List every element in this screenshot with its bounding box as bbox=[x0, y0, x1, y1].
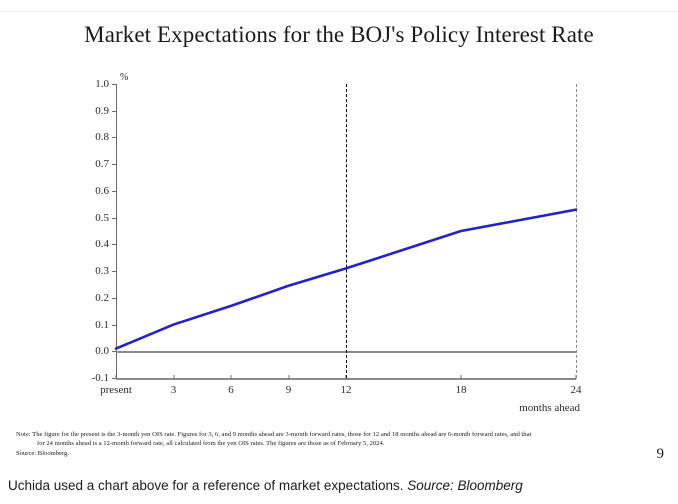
y-tick-label: 0.2 bbox=[95, 292, 109, 304]
x-tick-label: 3 bbox=[171, 384, 177, 396]
slide-top-divider bbox=[0, 11, 678, 12]
y-tick-label: 0.1 bbox=[95, 319, 109, 331]
x-tick-label: present bbox=[100, 384, 132, 396]
x-tick-label: 12 bbox=[341, 384, 352, 396]
y-tick-label: -0.1 bbox=[92, 372, 109, 384]
image-caption: Uchida used a chart above for a referenc… bbox=[8, 478, 676, 493]
series-line-market-expectations bbox=[116, 210, 576, 349]
y-tick-label: 0.5 bbox=[95, 212, 109, 224]
footnote-line-1: Note: The figure for the present is the … bbox=[16, 430, 666, 439]
chart-plot-area: % 1.00.90.80.70.60.50.40.30.20.10.0-0.1 … bbox=[116, 84, 576, 378]
y-tick-label: 0.7 bbox=[95, 158, 109, 170]
x-tick-label: 18 bbox=[456, 384, 467, 396]
y-tick-label: 1.0 bbox=[95, 78, 109, 90]
x-tick-label: 6 bbox=[228, 384, 234, 396]
y-tick-label: 0.4 bbox=[95, 238, 109, 250]
x-tick-label: 24 bbox=[571, 384, 582, 396]
y-tick-label: 0.9 bbox=[95, 105, 109, 117]
caption-text: Uchida used a chart above for a referenc… bbox=[8, 478, 407, 493]
y-tick-label: 0.0 bbox=[95, 345, 109, 357]
chart-footnote: Note: The figure for the present is the … bbox=[16, 430, 666, 459]
chart-series-layer bbox=[116, 84, 576, 378]
caption-source: Source: Bloomberg bbox=[407, 478, 523, 493]
vline-24-months bbox=[576, 84, 577, 378]
y-tick-label: 0.8 bbox=[95, 131, 109, 143]
x-axis-title: months ahead bbox=[519, 402, 580, 414]
slide-canvas: Market Expectations for the BOJ's Policy… bbox=[0, 0, 678, 468]
y-axis-unit-label: % bbox=[120, 72, 128, 83]
slide-page-number: 9 bbox=[657, 446, 665, 463]
footnote-source: Source: Bloomberg. bbox=[16, 449, 666, 458]
footnote-line-2: for 24 months ahead is a 12-month forwar… bbox=[16, 439, 666, 448]
x-tick-label: 9 bbox=[286, 384, 292, 396]
y-tick-label: 0.6 bbox=[95, 185, 109, 197]
y-tick-label: 0.3 bbox=[95, 265, 109, 277]
page-title: Market Expectations for the BOJ's Policy… bbox=[0, 22, 678, 48]
